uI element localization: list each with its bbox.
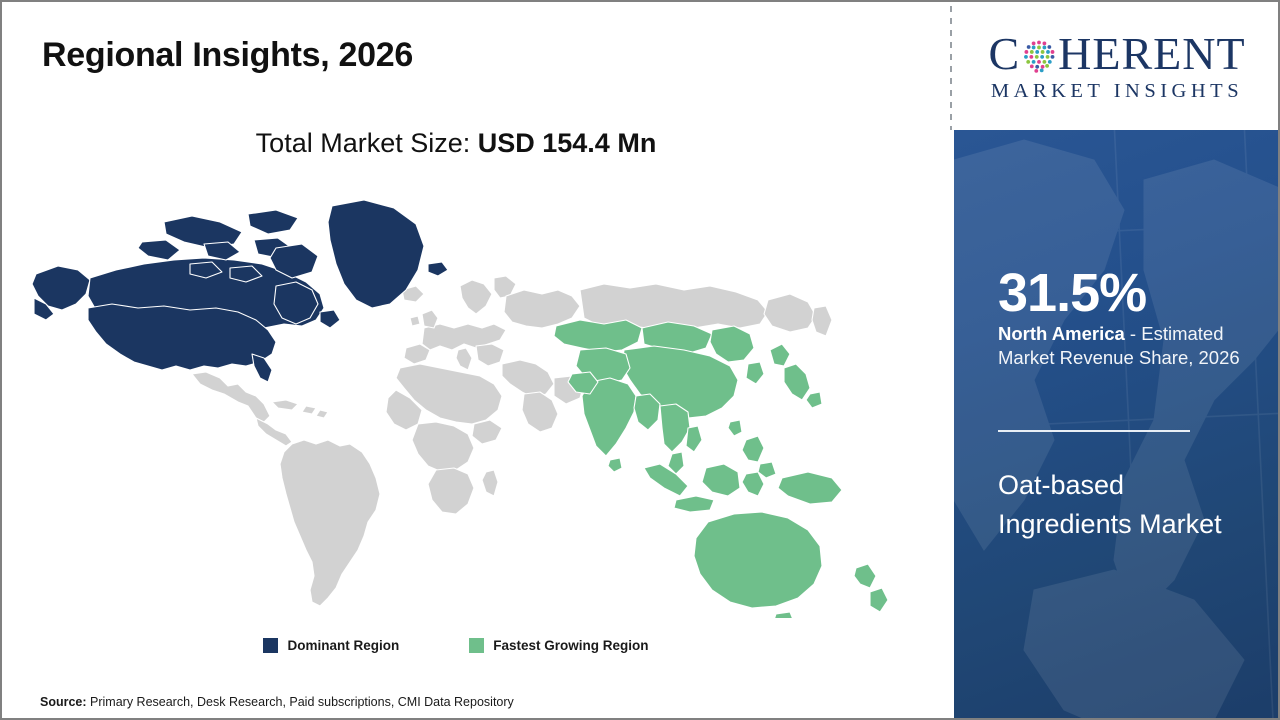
legend-label-growth: Fastest Growing Region bbox=[493, 638, 648, 653]
stat-panel: 31.5% North America - Estimated Market R… bbox=[954, 130, 1280, 720]
stat-panel-content: 31.5% North America - Estimated Market R… bbox=[998, 130, 1248, 720]
map-legend: Dominant Region Fastest Growing Region bbox=[2, 638, 910, 653]
logo-subtitle: MARKET INSIGHTS bbox=[991, 80, 1243, 103]
map-dominant-regions bbox=[32, 200, 448, 382]
vertical-divider bbox=[950, 6, 952, 130]
stat-percent-value: 31.5% bbox=[998, 266, 1146, 320]
total-market-size: Total Market Size: USD 154.4 Mn bbox=[2, 128, 910, 159]
globe-dots-icon bbox=[1021, 38, 1057, 74]
map-growth-regions bbox=[554, 320, 888, 618]
left-content-panel: Regional Insights, 2026 Total Market Siz… bbox=[2, 2, 950, 718]
stat-region-name: North America bbox=[998, 323, 1125, 344]
total-market-size-value: USD 154.4 Mn bbox=[478, 128, 657, 158]
logo-wordmark-row: C bbox=[988, 31, 1245, 77]
world-map-svg bbox=[24, 178, 904, 618]
brand-logo: C bbox=[954, 4, 1280, 130]
legend-item-fastest-growing-region: Fastest Growing Region bbox=[469, 638, 648, 653]
source-label: Source: bbox=[40, 695, 87, 709]
legend-label-dominant: Dominant Region bbox=[287, 638, 399, 653]
market-name: Oat-based Ingredients Market bbox=[998, 466, 1238, 544]
panel-divider-rule bbox=[998, 430, 1190, 432]
legend-swatch-dominant bbox=[263, 638, 278, 653]
legend-item-dominant-region: Dominant Region bbox=[263, 638, 399, 653]
logo-letter-c: C bbox=[988, 31, 1020, 77]
world-map-container bbox=[24, 178, 904, 618]
source-text: Primary Research, Desk Research, Paid su… bbox=[87, 695, 514, 709]
page-title: Regional Insights, 2026 bbox=[42, 36, 413, 75]
legend-swatch-growth bbox=[469, 638, 484, 653]
source-line: Source: Primary Research, Desk Research,… bbox=[40, 695, 514, 709]
total-market-size-label: Total Market Size: bbox=[256, 128, 478, 158]
stat-description: North America - Estimated Market Revenue… bbox=[998, 322, 1260, 371]
infographic-page: Regional Insights, 2026 Total Market Siz… bbox=[0, 0, 1280, 720]
logo-word-herent: HERENT bbox=[1058, 31, 1245, 77]
